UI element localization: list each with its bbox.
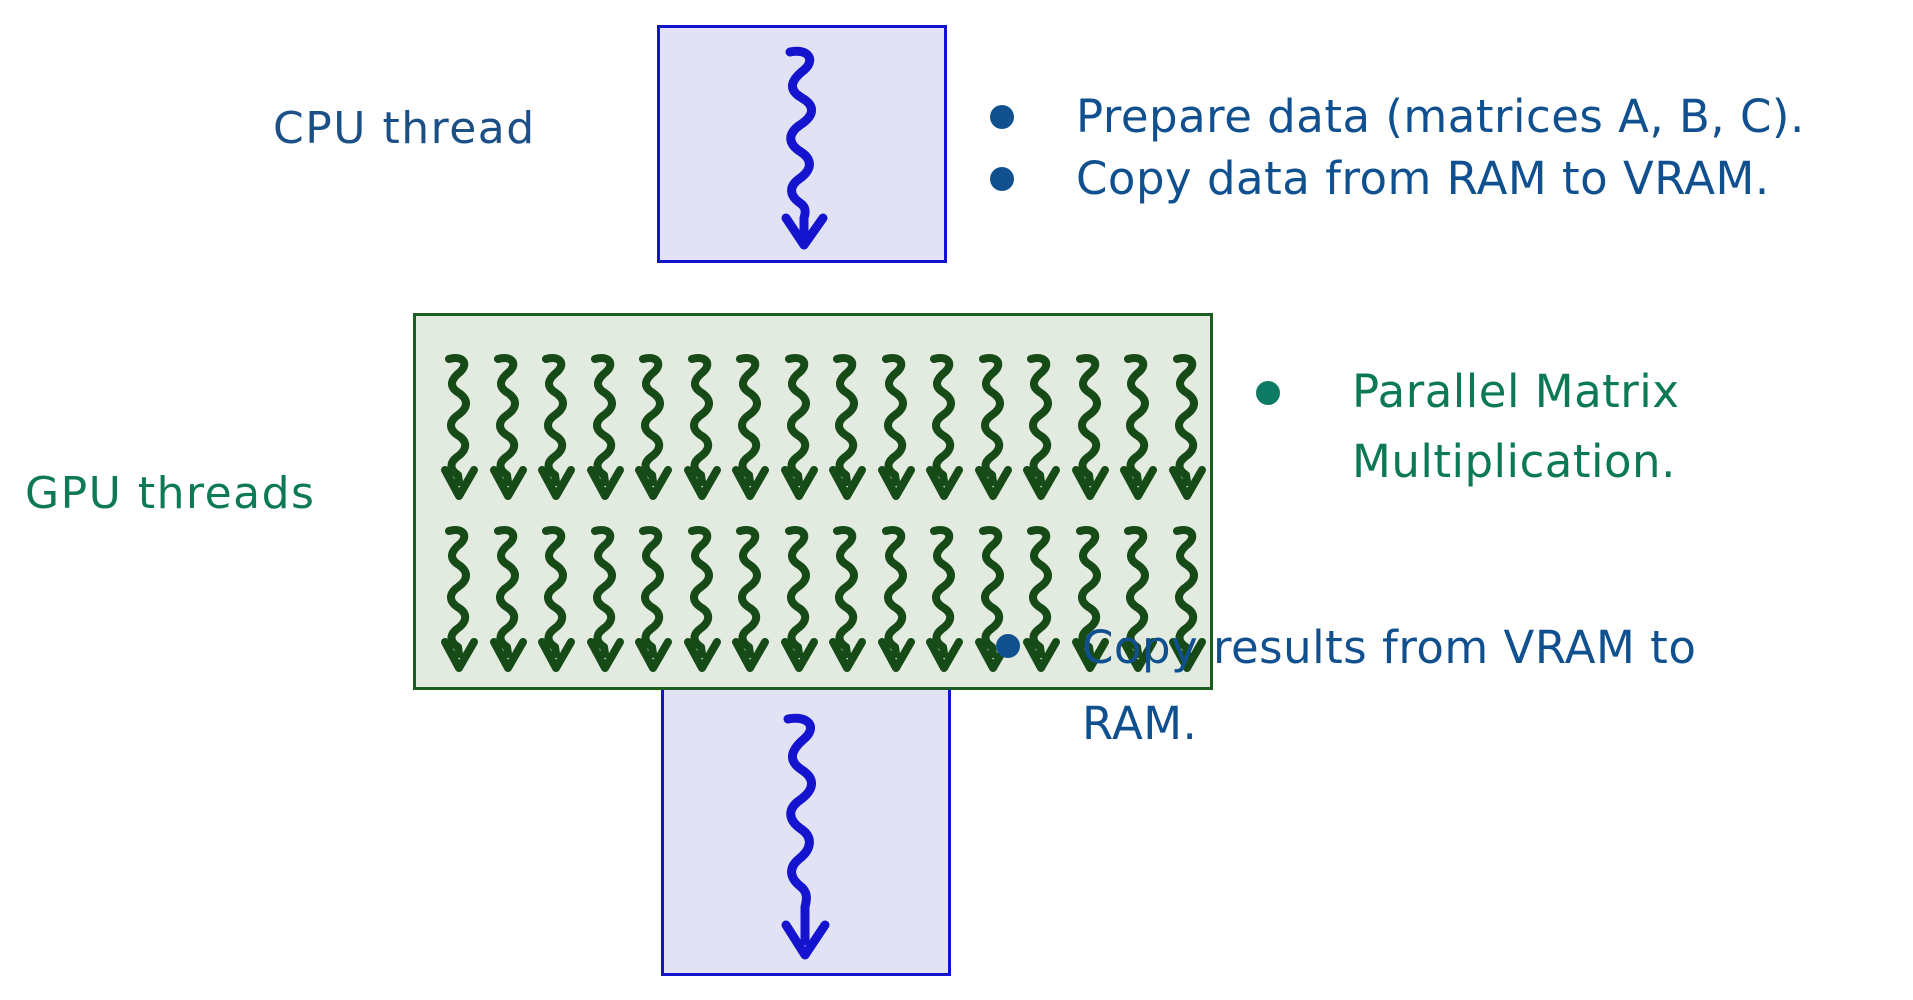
gpu-thread-arrow [1022, 354, 1068, 504]
cpu-thread-box-bottom [661, 684, 951, 976]
bullet-dot-icon [1256, 381, 1280, 405]
gpu-thread-arrow [877, 526, 923, 676]
gpu-thread-arrow [780, 354, 826, 504]
gpu-thread-arrow [1168, 354, 1214, 504]
gpu-thread-arrow [586, 526, 632, 676]
gpu-thread-arrow [974, 354, 1020, 504]
cpu-thread-label: CPU thread [273, 103, 536, 154]
gpu-thread-arrow [683, 354, 729, 504]
gpu-thread-arrow [440, 354, 486, 504]
gpu-thread-arrow [780, 526, 826, 676]
gpu-thread-arrow [586, 354, 632, 504]
cpu-thread-arrow-top [768, 46, 848, 251]
gpu-thread-arrow [489, 354, 535, 504]
gpu-thread-arrow [925, 526, 971, 676]
gpu-thread-arrow [489, 526, 535, 676]
gpu-thread-arrow [1119, 354, 1165, 504]
gpu-thread-arrow [634, 526, 680, 676]
bullet-dot-icon [996, 634, 1020, 658]
list-item-label: Prepare data (matrices A, B, C). [1076, 88, 1805, 146]
cpu-thread-box-top [657, 25, 947, 263]
bullet-dot-icon [990, 167, 1014, 191]
gpu-thread-arrow [925, 354, 971, 504]
gpu-thread-arrow [1071, 354, 1117, 504]
gpu-thread-arrow [877, 354, 923, 504]
gpu-thread-arrow [537, 354, 583, 504]
list-item-label: Copy results from VRAM to RAM. [1082, 610, 1696, 762]
list-item-parallel-matmul: Parallel Matrix Multiplication. [1256, 357, 1679, 497]
gpu-thread-arrow [731, 526, 777, 676]
gpu-thread-arrow [440, 526, 486, 676]
gpu-thread-arrow [683, 526, 729, 676]
bullet-dot-icon [990, 105, 1014, 129]
gpu-thread-arrow [828, 526, 874, 676]
list-item-copy-to-vram: Copy data from RAM to VRAM. [990, 150, 1770, 208]
gpu-thread-arrow [731, 354, 777, 504]
cpu-thread-arrow-bottom [768, 713, 848, 963]
list-item-label: Copy data from RAM to VRAM. [1076, 150, 1770, 208]
list-item-prepare-data: Prepare data (matrices A, B, C). [990, 88, 1805, 146]
list-item-copy-to-ram: Copy results from VRAM to RAM. [996, 610, 1696, 762]
gpu-threads-label: GPU threads [25, 468, 315, 519]
list-item-label: Parallel Matrix Multiplication. [1352, 357, 1679, 497]
gpu-thread-arrow [537, 526, 583, 676]
gpu-thread-arrow [828, 354, 874, 504]
gpu-thread-arrow [634, 354, 680, 504]
